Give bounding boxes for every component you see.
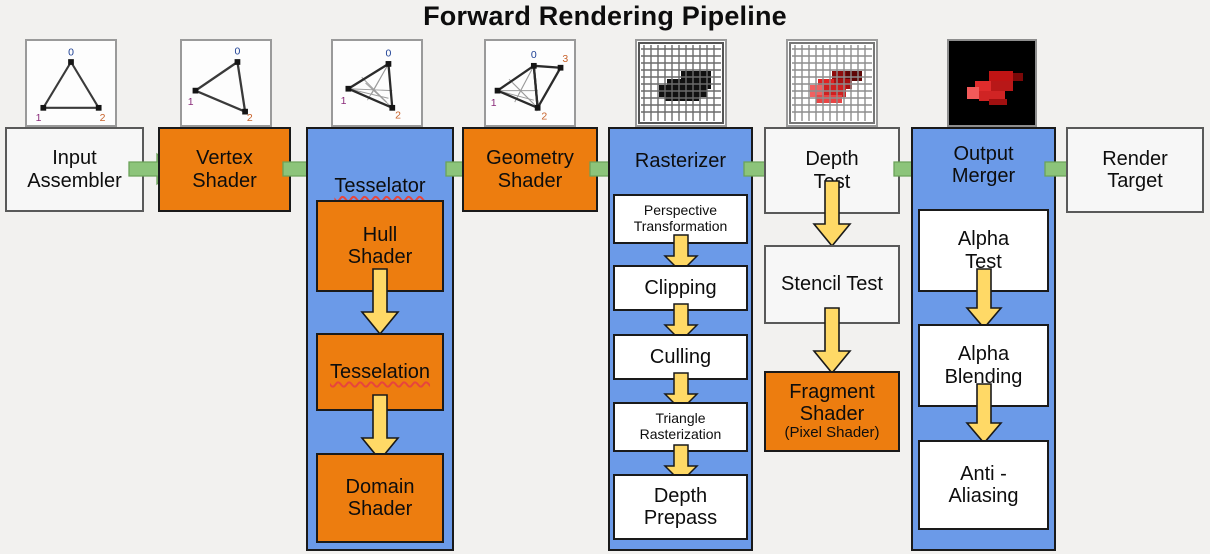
quad-mesh-thumbnail: 0 1 2 3: [484, 39, 576, 127]
stage-fragment-shader-sublabel: (Pixel Shader): [784, 425, 879, 442]
stage-domain-shader[interactable]: Domain Shader: [316, 453, 444, 543]
svg-text:2: 2: [247, 112, 253, 124]
svg-text:2: 2: [100, 112, 106, 124]
tessellated-triangle-thumbnail: 0 1 2: [331, 39, 423, 127]
svg-text:0: 0: [235, 45, 241, 57]
svg-text:2: 2: [395, 109, 401, 121]
svg-text:1: 1: [491, 97, 497, 109]
stage-depth-prepass[interactable]: Depth Prepass: [613, 474, 748, 540]
arrow-hull-shader-to-tesselation: [360, 268, 400, 336]
arrow-depth-test-to-stencil-test: [812, 180, 852, 248]
stage-tesselator-text: Tesselator: [334, 175, 425, 197]
arrow-alpha-test-to-alpha-blending: [965, 268, 1003, 330]
svg-text:1: 1: [341, 95, 347, 107]
stage-rasterizer-label: Rasterizer: [608, 150, 753, 172]
svg-text:0: 0: [386, 47, 392, 59]
arrow-tesselation-to-domain-shader: [360, 394, 400, 462]
arrow-stencil-test-to-fragment-shader: [812, 307, 852, 375]
stage-input-assembler[interactable]: Input Assembler: [5, 127, 144, 212]
svg-text:3: 3: [562, 53, 568, 65]
stage-anti-aliasing[interactable]: Anti - Aliasing: [918, 440, 1049, 530]
pixel-grid-black-thumbnail: [635, 39, 727, 127]
stage-vertex-shader[interactable]: Vertex Shader: [158, 127, 291, 212]
arrow-alpha-blending-to-anti-aliasing: [965, 383, 1003, 445]
stage-render-target[interactable]: Render Target: [1066, 127, 1204, 213]
svg-text:2: 2: [541, 110, 547, 122]
final-render-thumbnail: [947, 39, 1037, 127]
svg-text:0: 0: [531, 49, 537, 61]
triangle-vertices-thumbnail: 0 1 2: [25, 39, 117, 127]
svg-text:0: 0: [68, 46, 74, 58]
stage-fragment-shader-label: Fragment Shader: [789, 381, 875, 426]
stage-output-merger-label: Output Merger: [911, 143, 1056, 188]
stage-fragment-shader[interactable]: Fragment Shader (Pixel Shader): [764, 371, 900, 452]
stage-geometry-shader[interactable]: Geometry Shader: [462, 127, 598, 212]
transformed-triangle-thumbnail: 0 1 2: [180, 39, 272, 127]
svg-text:1: 1: [36, 112, 42, 124]
stage-tesselation-text: Tesselation: [330, 361, 430, 383]
pixel-grid-red-thumbnail: [786, 39, 878, 127]
page-title: Forward Rendering Pipeline: [0, 1, 1210, 32]
svg-text:1: 1: [188, 96, 194, 108]
stage-tesselator-label: Tesselator: [306, 153, 454, 198]
